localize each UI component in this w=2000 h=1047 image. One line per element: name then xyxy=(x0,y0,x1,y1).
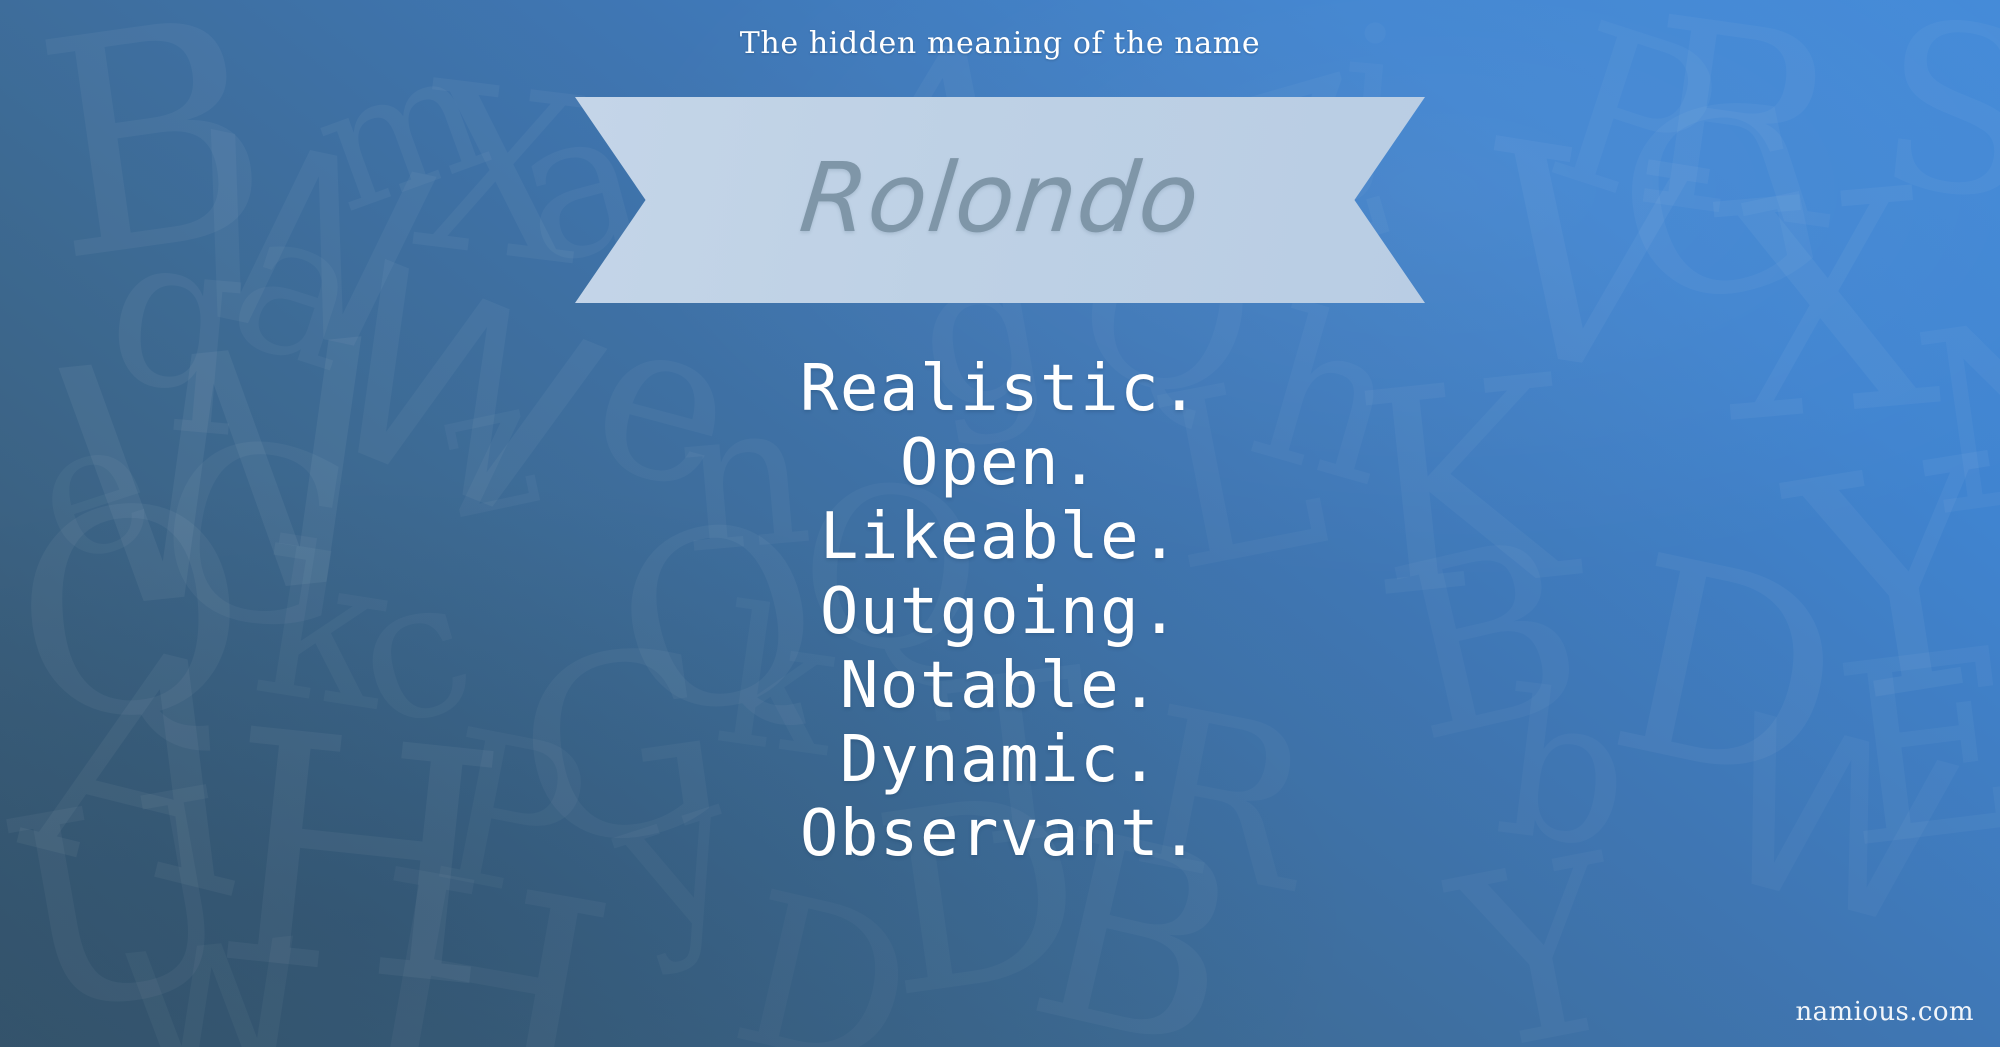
trait-line: Observant. xyxy=(0,797,2000,871)
name-banner-ribbon: Rolondo xyxy=(575,97,1425,303)
trait-line: Open. xyxy=(0,426,2000,500)
trait-line: Notable. xyxy=(0,649,2000,723)
name-meaning-card: BWmqWaQGAUHcWzXGenPQkyATBLQhKVGPXRYDEWBb… xyxy=(0,0,2000,1047)
background-glyph: W xyxy=(162,123,445,370)
site-watermark: namious.com xyxy=(1796,997,1975,1027)
trait-line: Realistic. xyxy=(0,352,2000,426)
traits-list: Realistic.Open.Likeable.Outgoing.Notable… xyxy=(0,352,2000,872)
background-glyph: G xyxy=(1601,86,1838,323)
background-glyph: H xyxy=(342,860,621,1047)
trait-line: Likeable. xyxy=(0,500,2000,574)
background-glyph: w xyxy=(111,891,317,1047)
background-glyph: m xyxy=(302,39,500,222)
background-glyph: X xyxy=(409,74,594,277)
background-glyph: D xyxy=(723,884,925,1047)
trait-line: Dynamic. xyxy=(0,723,2000,797)
name-text: Rolondo xyxy=(795,142,1205,254)
trait-line: Outgoing. xyxy=(0,575,2000,649)
background-glyph: Y xyxy=(1443,845,1635,1047)
page-title: The hidden meaning of the name xyxy=(0,26,2000,61)
